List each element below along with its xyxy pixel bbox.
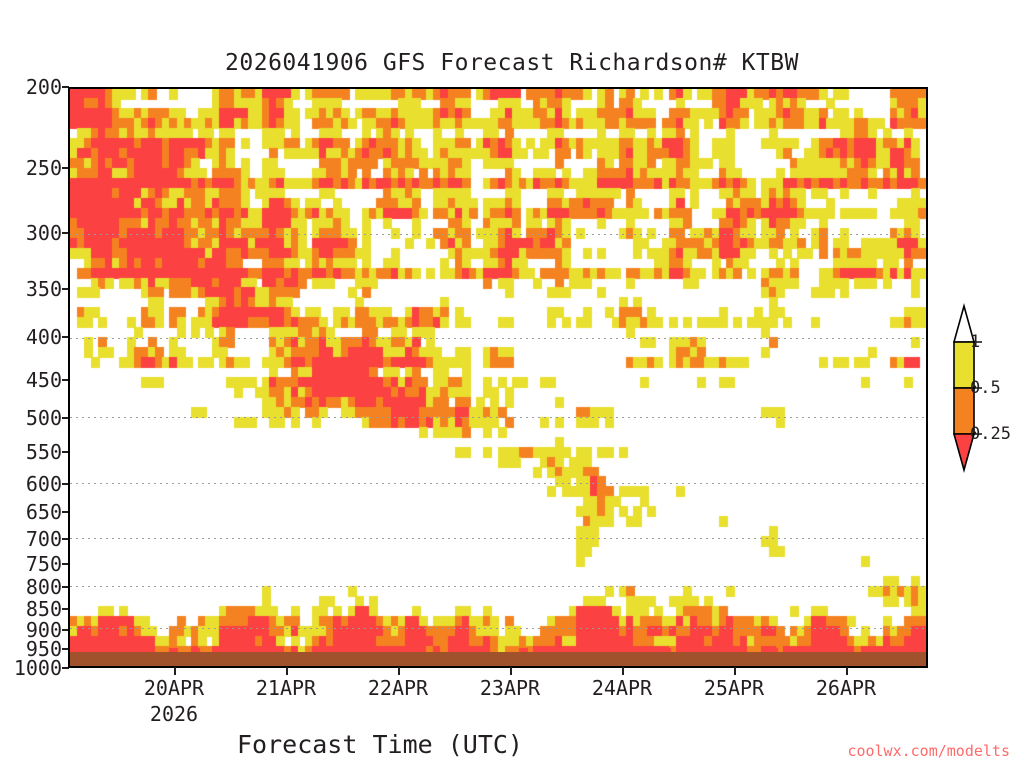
y-tick-label-800: 800 <box>2 577 62 597</box>
x-tick-label-25apr: 25APR <box>674 676 794 700</box>
x-tick-mark-22apr <box>398 667 400 675</box>
legend-label-025: 0.25 <box>970 426 1011 443</box>
x-tick-mark-21apr <box>286 667 288 675</box>
richardson-heatmap <box>70 89 926 666</box>
y-axis: 2002503003504004505005506006507007508008… <box>0 87 62 668</box>
y-tick-label-300: 300 <box>2 223 62 243</box>
legend-label-1: 1 <box>970 334 980 351</box>
x-tick-label-21apr: 21APR <box>226 676 346 700</box>
x-tick-mark-20apr <box>174 667 176 675</box>
x-tick-year-label: 2026 <box>114 702 234 726</box>
y-tick-label-550: 550 <box>2 442 62 462</box>
chart-figure: 2026041906 GFS Forecast Richardson# KTBW… <box>0 0 1024 768</box>
x-tick-label-24apr: 24APR <box>562 676 682 700</box>
x-tick-label-22apr: 22APR <box>338 676 458 700</box>
page-title: 2026041906 GFS Forecast Richardson# KTBW <box>0 50 1024 76</box>
y-tick-label-1000: 1000 <box>2 658 62 678</box>
y-tick-label-350: 350 <box>2 279 62 299</box>
y-tick-label-650: 650 <box>2 502 62 522</box>
y-tick-label-850: 850 <box>2 599 62 619</box>
x-tick-label-20apr: 20APR <box>114 676 234 700</box>
x-axis-title: Forecast Time (UTC) <box>0 730 760 759</box>
y-tick-label-600: 600 <box>2 474 62 494</box>
y-tick-label-700: 700 <box>2 529 62 549</box>
y-tick-label-250: 250 <box>2 158 62 178</box>
x-axis: 20APR202621APR22APR23APR24APR25APR26APR <box>0 676 1024 736</box>
x-tick-label-26apr: 26APR <box>786 676 906 700</box>
x-tick-label-23apr: 23APR <box>450 676 570 700</box>
y-tick-label-750: 750 <box>2 554 62 574</box>
y-tick-label-450: 450 <box>2 370 62 390</box>
terrain-band <box>70 652 926 666</box>
legend-label-05: 0.5 <box>970 380 1001 397</box>
gridline-1000 <box>70 666 926 667</box>
colorbar-legend: 1 0.5 0.25 <box>938 296 1024 476</box>
y-tick-label-200: 200 <box>2 77 62 97</box>
x-tick-mark-26apr <box>846 667 848 675</box>
x-tick-mark-23apr <box>510 667 512 675</box>
plot-area <box>68 87 928 668</box>
y-tick-label-400: 400 <box>2 327 62 347</box>
x-tick-mark-24apr <box>622 667 624 675</box>
x-tick-mark-25apr <box>734 667 736 675</box>
watermark-link[interactable]: coolwx.com/modelts <box>847 742 1010 760</box>
y-tick-label-500: 500 <box>2 408 62 428</box>
